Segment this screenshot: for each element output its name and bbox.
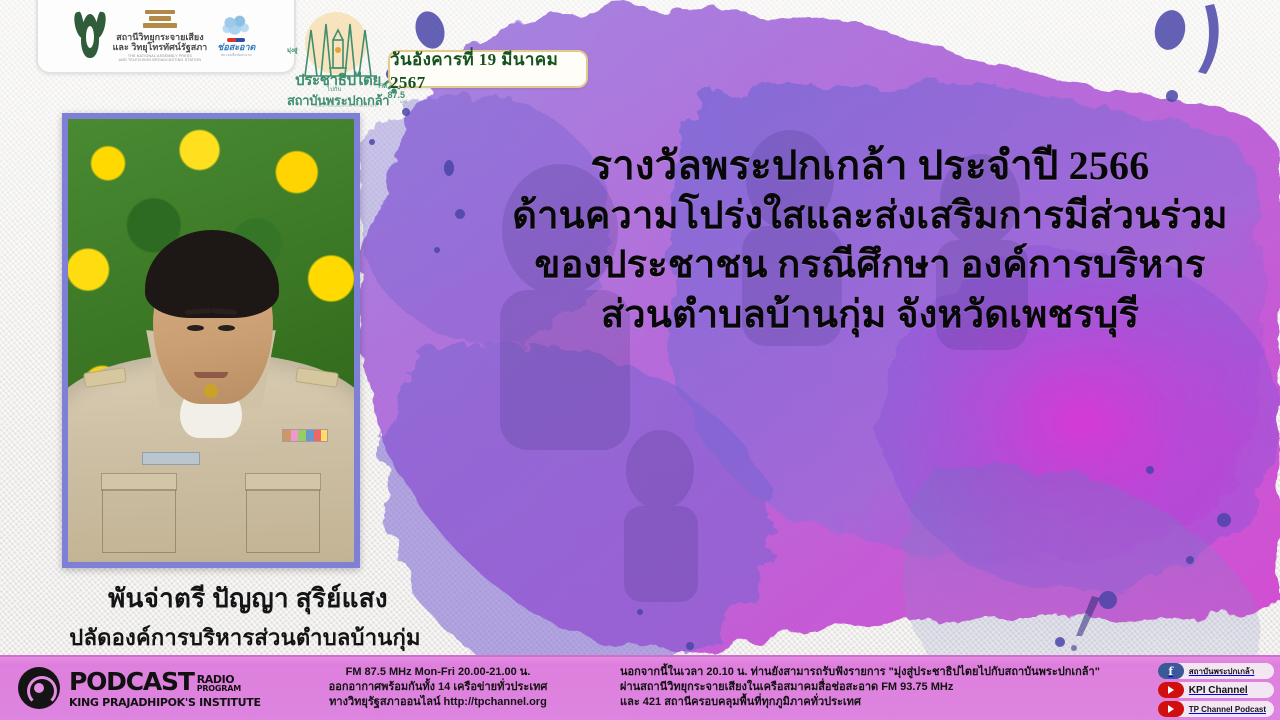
collar-badge-icon	[204, 384, 218, 398]
chor-sa-ard-name: ช่อสะอาด	[217, 43, 255, 52]
headline-block: รางวัลพระปกเกล้า ประจำปี 2566 ด้านความโป…	[470, 140, 1270, 340]
mouth	[194, 372, 228, 378]
facebook-icon: f	[1158, 663, 1184, 679]
uniform-name-tag	[142, 452, 200, 465]
headline-line-4: ส่วนตำบลบ้านกุ่ม จังหวัดเพชรบุรี	[470, 291, 1270, 340]
headline-line-3: ของประชาชน กรณีศึกษา องค์การบริหาร	[470, 241, 1270, 290]
democracy-pre-text: มุ่งสู่	[287, 48, 298, 54]
thai-flag-ribbon-icon	[227, 38, 245, 42]
guest-name: พันจ่าตรี ปัญญา สุริย์แสง	[48, 578, 448, 619]
social-link-facebook[interactable]: f สถาบันพระปกเกล้า	[1158, 663, 1274, 679]
station-bars-icon	[143, 10, 177, 28]
poster-canvas: สถานีวิทยุกระจายเสียง และ วิทยุโทรทัศน์ร…	[0, 0, 1280, 720]
guest-portrait-photo	[62, 113, 360, 568]
podcast-program-word: PROGRAM	[197, 685, 241, 693]
headline-line-2: ด้านความโปร่งใสและส่งเสริมการมีส่วนร่วม	[470, 192, 1270, 241]
garuda-emblem-icon	[77, 10, 103, 62]
broadcast-date-badge: วันอังคารที่ 19 มีนาคม 2567	[388, 50, 588, 88]
flower-burst-icon	[221, 15, 251, 37]
fm-label: FM	[378, 84, 387, 90]
broadcast-info-text: FM 87.5 MHz Mon-Fri 20.00-21.00 น. ออกอา…	[288, 665, 588, 711]
social-link-tp-channel-podcast[interactable]: TP Channel Podcast	[1158, 701, 1274, 717]
guest-role: ปลัดองค์การบริหารส่วนตำบลบ้านกุ่ม	[30, 620, 460, 655]
podcast-word: PODCAST	[69, 669, 194, 694]
chor-sa-ard-logo: ช่อสะอาด สมาคมสื่อช่อสะอาด	[217, 15, 255, 58]
kpi-sub-en: KING PRAJADHIPOK'S INSTITUTE	[315, 104, 377, 108]
headline-line-1: รางวัลพระปกเกล้า ประจำปี 2566	[470, 140, 1270, 192]
nbt-station-logo: สถานีวิทยุกระจายเสียง และ วิทยุโทรทัศน์ร…	[113, 10, 208, 63]
social-label-tp-channel-podcast: TP Channel Podcast	[1189, 705, 1266, 714]
social-label-kpi-channel: KPI Channel	[1189, 685, 1248, 696]
social-label-facebook: สถาบันพระปกเกล้า	[1189, 665, 1255, 678]
eye-left	[187, 325, 204, 331]
fm-mhz-unit: MHz	[400, 100, 407, 104]
extra-broadcast-info-text: นอกจากนี้ในเวลา 20.10 น. ท่านยังสามารถรั…	[620, 665, 1120, 711]
podcast-mic-icon	[18, 667, 60, 709]
podcast-logo: PODCAST RADIO PROGRAM KING PRAJADHIPOK'S…	[18, 667, 261, 709]
youtube-icon	[1158, 682, 1184, 698]
youtube-icon	[1158, 701, 1184, 717]
medal-ribbon-bar	[282, 429, 328, 442]
station-name-en: THE NATIONAL ASSEMBLY PRESS AND TELEVISI…	[119, 54, 201, 63]
social-links: f สถาบันพระปกเกล้า KPI Channel TP Channe…	[1158, 663, 1274, 717]
broadcaster-logo-card: สถานีวิทยุกระจายเสียง และ วิทยุโทรทัศน์ร…	[36, 0, 296, 74]
station-name-th: สถานีวิทยุกระจายเสียง และ วิทยุโทรทัศน์ร…	[113, 32, 208, 52]
footer-bar: PODCAST RADIO PROGRAM KING PRAJADHIPOK'S…	[0, 655, 1280, 720]
chor-sa-ard-sub: สมาคมสื่อช่อสะอาด	[221, 53, 252, 58]
social-link-kpi-channel[interactable]: KPI Channel	[1158, 682, 1274, 698]
pocket-right	[246, 489, 320, 553]
broadcast-date-text: วันอังคารที่ 19 มีนาคม 2567	[390, 46, 586, 93]
pocket-left	[102, 489, 176, 553]
podcast-institute-word: KING PRAJADHIPOK'S INSTITUTE	[69, 697, 261, 708]
